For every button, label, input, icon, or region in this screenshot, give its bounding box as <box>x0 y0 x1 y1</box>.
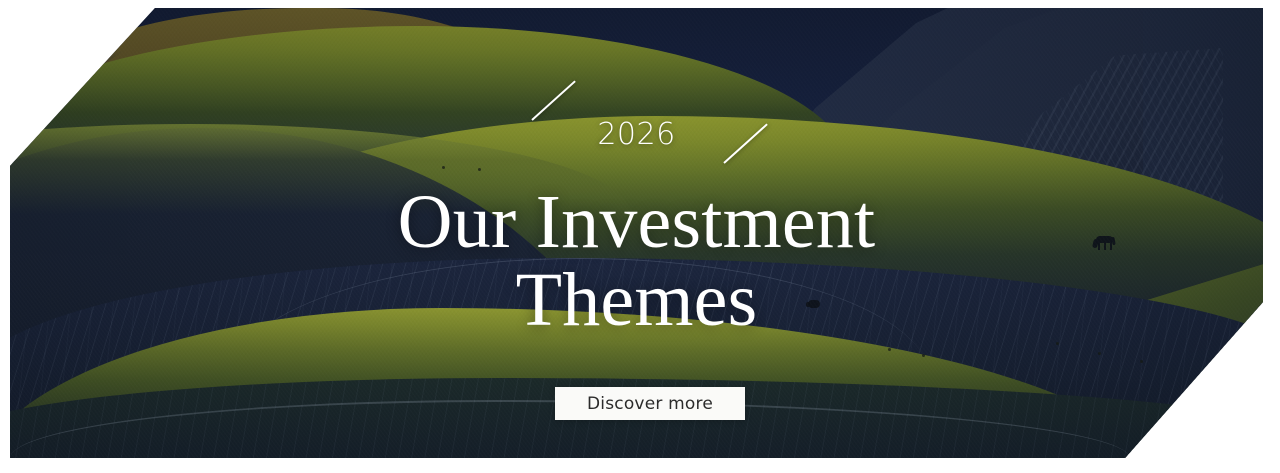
page-title: Our Investment Themes <box>10 184 1263 339</box>
page-title-line-1: Our Investment <box>398 180 876 264</box>
year-label: 2026 <box>597 120 675 150</box>
discover-more-button-label: Discover more <box>587 394 713 414</box>
banner-overlay: 2026 Our Investment Themes Discover more <box>10 8 1263 458</box>
banner-canvas: 2026 Our Investment Themes Discover more <box>0 0 1280 473</box>
year-row: 2026 <box>10 120 1263 150</box>
page-title-line-2: Themes <box>10 262 1263 340</box>
diagonal-rule-left-icon <box>531 80 575 120</box>
discover-more-button[interactable]: Discover more <box>555 387 745 420</box>
hero-banner: 2026 Our Investment Themes Discover more <box>10 8 1263 458</box>
